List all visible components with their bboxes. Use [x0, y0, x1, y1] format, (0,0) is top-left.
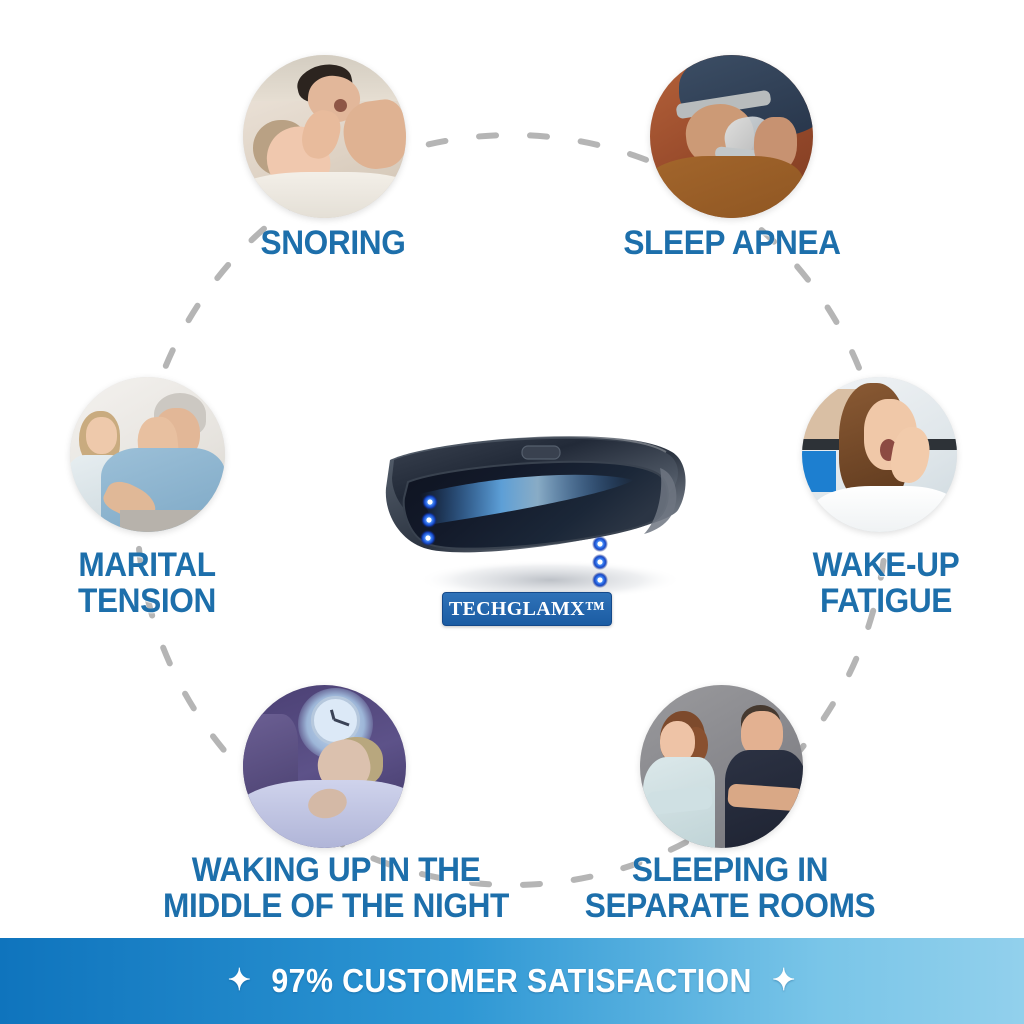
sleep-apnea-scene [650, 55, 813, 218]
photo-waking-up-middle-of-night [243, 685, 406, 848]
satisfaction-banner-content: ✦ 97% CUSTOMER SATISFACTION ✦ [228, 962, 796, 1000]
led-left-2-core [426, 517, 431, 522]
led-left-3-core [425, 535, 430, 540]
label-wake-up-fatigue: WAKE-UP FATIGUE [764, 548, 1008, 619]
led-right-3-core [597, 577, 602, 582]
fatigue-white-top [811, 486, 957, 533]
label-snoring: SNORING [194, 226, 473, 262]
led-right-1-core [597, 541, 602, 546]
device-led-group-right [592, 536, 608, 588]
snoring-scene [243, 55, 406, 218]
fatigue-blue-accent [802, 451, 836, 491]
fatigue-scene [802, 377, 957, 532]
satisfaction-text: 97% CUSTOMER SATISFACTION [272, 962, 752, 1000]
device-power-button[interactable] [522, 446, 560, 459]
product-device [372, 408, 712, 608]
led-right-2-core [597, 559, 602, 564]
brand-badge: TECHGLAMX™ [442, 592, 612, 626]
photo-sleeping-in-separate-rooms [640, 685, 803, 848]
sparkle-right-icon: ✦ [772, 966, 796, 996]
apnea-shirt [650, 156, 803, 218]
device-led-group-left [420, 494, 438, 546]
photo-snoring [243, 55, 406, 218]
label-marital-tension: MARITAL TENSION [25, 548, 269, 619]
marital-woman-face [86, 417, 117, 454]
photo-marital-tension [70, 377, 225, 532]
night-scene [243, 685, 406, 848]
separate-rooms-scene [640, 685, 803, 848]
marital-scene [70, 377, 225, 532]
marital-trousers [120, 510, 225, 532]
satisfaction-banner: ✦ 97% CUSTOMER SATISFACTION ✦ [0, 938, 1024, 1024]
sparkle-left-icon: ✦ [228, 966, 252, 996]
device-illustration [372, 408, 712, 608]
label-waking-up-middle-of-night: WAKING UP IN THE MIDDLE OF THE NIGHT [141, 853, 532, 924]
label-sleep-apnea: SLEEP APNEA [593, 226, 872, 262]
photo-sleep-apnea [650, 55, 813, 218]
led-left-1-core [427, 499, 432, 504]
label-sleeping-in-separate-rooms: SLEEPING IN SEPARATE ROOMS [577, 853, 884, 924]
infographic-canvas: TECHGLAMX™ SNORING SLEEP APNEA WAKE-UP F… [0, 0, 1024, 1024]
photo-wake-up-fatigue [802, 377, 957, 532]
snoring-pillow [243, 172, 406, 218]
